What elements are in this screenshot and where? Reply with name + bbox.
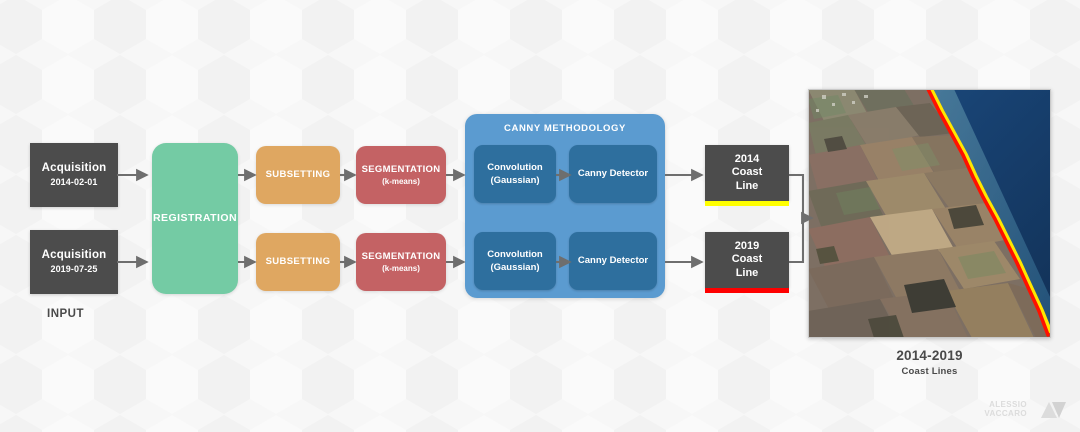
merge-connector <box>789 175 812 262</box>
connector-layer <box>0 0 1080 432</box>
